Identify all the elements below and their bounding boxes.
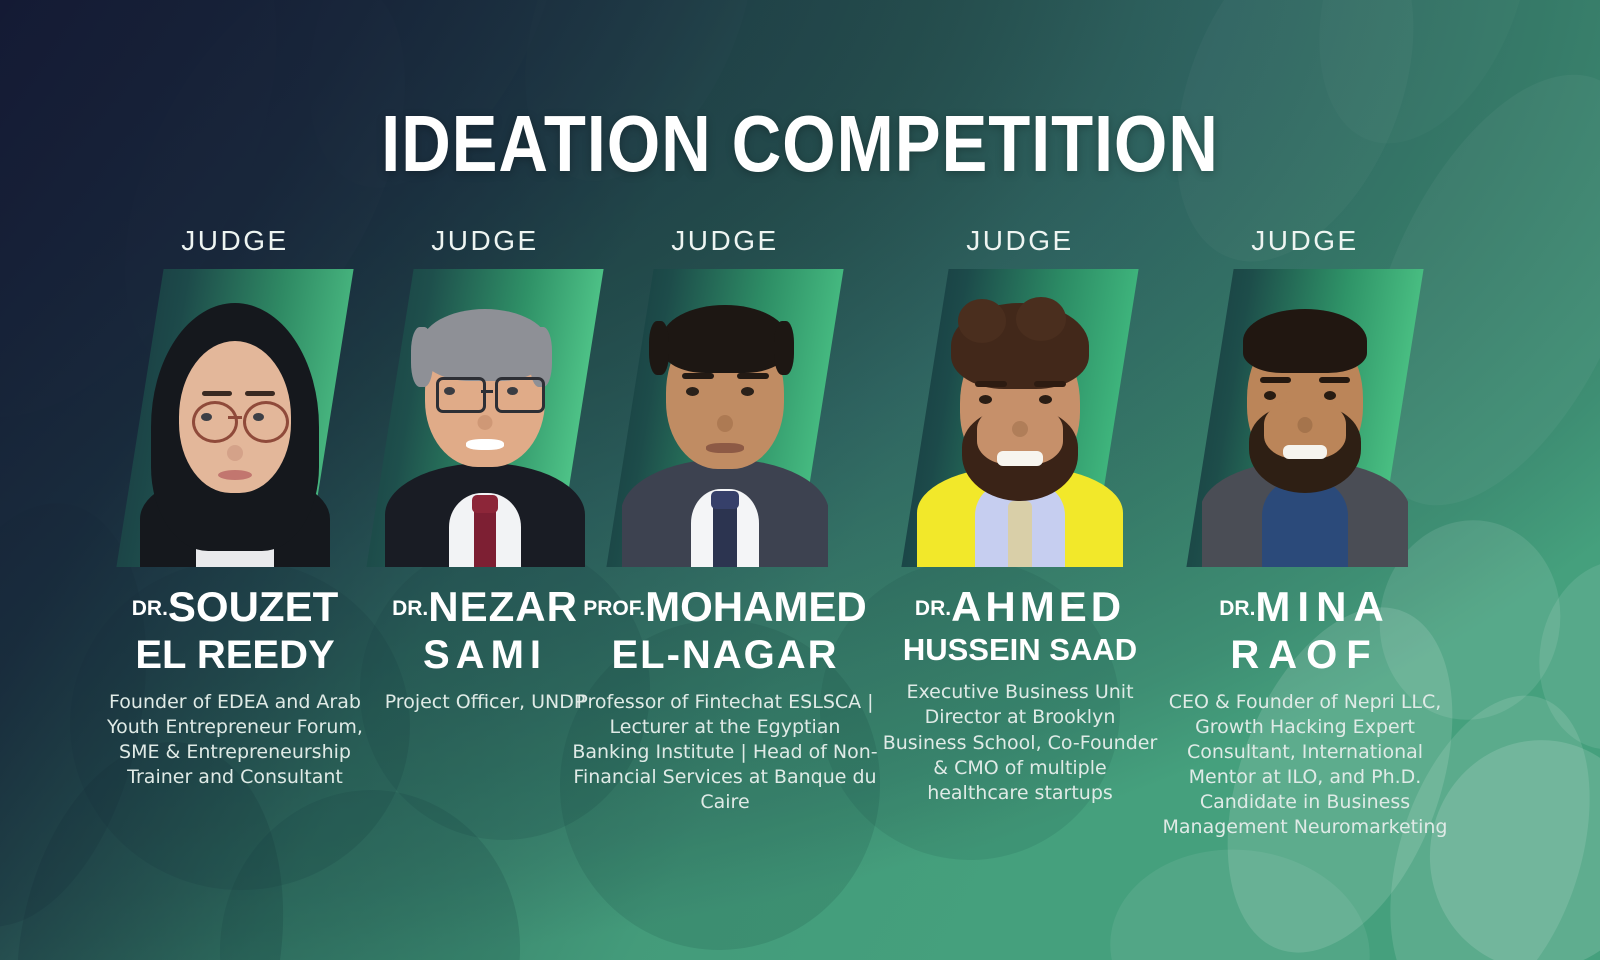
judge-photo-frame (570, 269, 880, 567)
judge-role-label: JUDGE (570, 225, 880, 257)
judge-card: JUDGE (880, 225, 1160, 806)
judge-last-name: EL REEDY (90, 634, 380, 676)
judge-card: JUDGE (570, 225, 880, 815)
judge-title-prefix: DR. (392, 597, 428, 620)
judge-last-name: EL-NAGAR (570, 634, 880, 676)
judge-last-name: HUSSEIN SAAD (880, 634, 1160, 667)
judge-bio: CEO & Founder of Nepri LLC, Growth Hacki… (1155, 690, 1455, 840)
judge-photo-frame (1155, 269, 1455, 567)
judges-row: JUDGE (0, 0, 1600, 960)
judge-name: DR.MINA RAOF (1155, 585, 1455, 676)
judge-title-prefix: PROF. (583, 597, 645, 620)
judge-card: JUDGE (1155, 225, 1455, 840)
judge-title-prefix: DR. (1219, 597, 1255, 620)
judge-title-prefix: DR. (915, 597, 951, 620)
judge-first-name: NEZAR (428, 583, 578, 630)
judge-role-label: JUDGE (880, 225, 1160, 257)
judge-first-name: SOUZET (168, 583, 338, 630)
judge-portrait (917, 269, 1123, 567)
judge-role-label: JUDGE (1155, 225, 1455, 257)
judge-name: DR.SOUZET EL REEDY (90, 585, 380, 676)
judge-photo-frame (880, 269, 1160, 567)
judge-bio: Executive Business Unit Director at Broo… (880, 680, 1160, 805)
judge-name: DR.AHMED HUSSEIN SAAD (880, 585, 1160, 666)
judge-card: JUDGE (90, 225, 380, 790)
judge-portrait (132, 269, 338, 567)
judge-name: PROF.MOHAMED EL-NAGAR (570, 585, 880, 676)
judge-first-name: AHMED (951, 583, 1125, 630)
judge-photo-frame (90, 269, 380, 567)
judge-bio: Professor of Fintechat ESLSCA | Lecturer… (570, 690, 880, 815)
judge-first-name: MOHAMED (645, 583, 867, 630)
poster-canvas: IDEATION COMPETITION JUDGE (0, 0, 1600, 960)
judge-role-label: JUDGE (90, 225, 380, 257)
judge-last-name: RAOF (1155, 634, 1455, 676)
judge-portrait (382, 269, 588, 567)
judge-title-prefix: DR. (132, 597, 168, 620)
judge-bio: Founder of EDEA and Arab Youth Entrepren… (90, 690, 380, 790)
judge-portrait (1202, 269, 1408, 567)
judge-first-name: MINA (1255, 583, 1390, 630)
judge-portrait (622, 269, 828, 567)
